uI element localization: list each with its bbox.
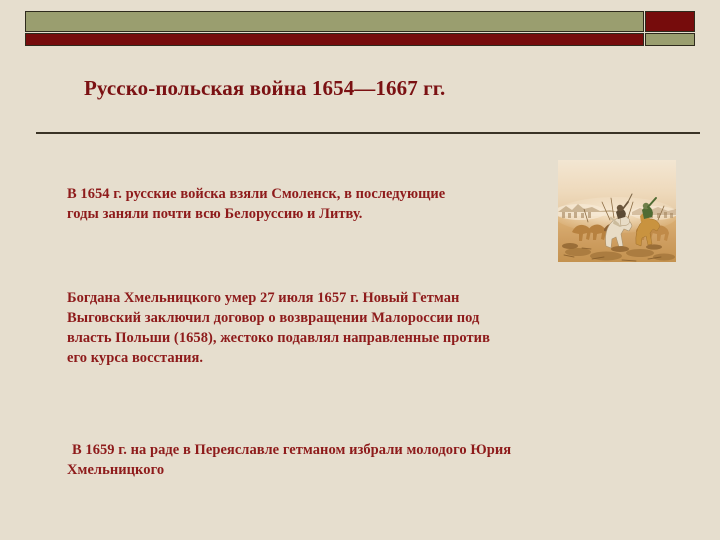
banner-red-square — [645, 11, 695, 32]
paragraph-line: его курса восстания. — [67, 348, 587, 368]
paragraph-line: Выговский заключил договор о возвращении… — [67, 308, 587, 328]
paragraph-yuri: В 1659 г. на раде в Переяславле гетманом… — [67, 440, 657, 480]
title-divider — [36, 132, 700, 134]
banner-red-bar — [25, 33, 644, 46]
banner-green-square — [645, 33, 695, 46]
battle-painting-artwork — [558, 160, 676, 262]
slide-canvas: Русско-польская война 1654—1667 гг. В 16… — [0, 0, 720, 540]
banner-green-bar — [25, 11, 644, 32]
paragraph-smolensk: В 1654 г. русские войска взяли Смоленск,… — [67, 184, 537, 224]
paragraph-line: В 1654 г. русские войска взяли Смоленск,… — [67, 184, 537, 204]
slide-title: Русско-польская война 1654—1667 гг. — [84, 76, 644, 101]
paragraph-line: власть Польши (1658), жестоко подавлял н… — [67, 328, 587, 348]
paragraph-vygovsky: Богдана Хмельницкого умер 27 июля 1657 г… — [67, 288, 587, 368]
paragraph-line: В 1659 г. на раде в Переяславле гетманом… — [67, 440, 657, 460]
paragraph-line: годы заняли почти всю Белоруссию и Литву… — [67, 204, 537, 224]
paragraph-line: Хмельницкого — [67, 460, 657, 480]
battle-painting — [558, 160, 676, 262]
decorative-banner — [25, 11, 695, 46]
paragraph-line: Богдана Хмельницкого умер 27 июля 1657 г… — [67, 288, 587, 308]
